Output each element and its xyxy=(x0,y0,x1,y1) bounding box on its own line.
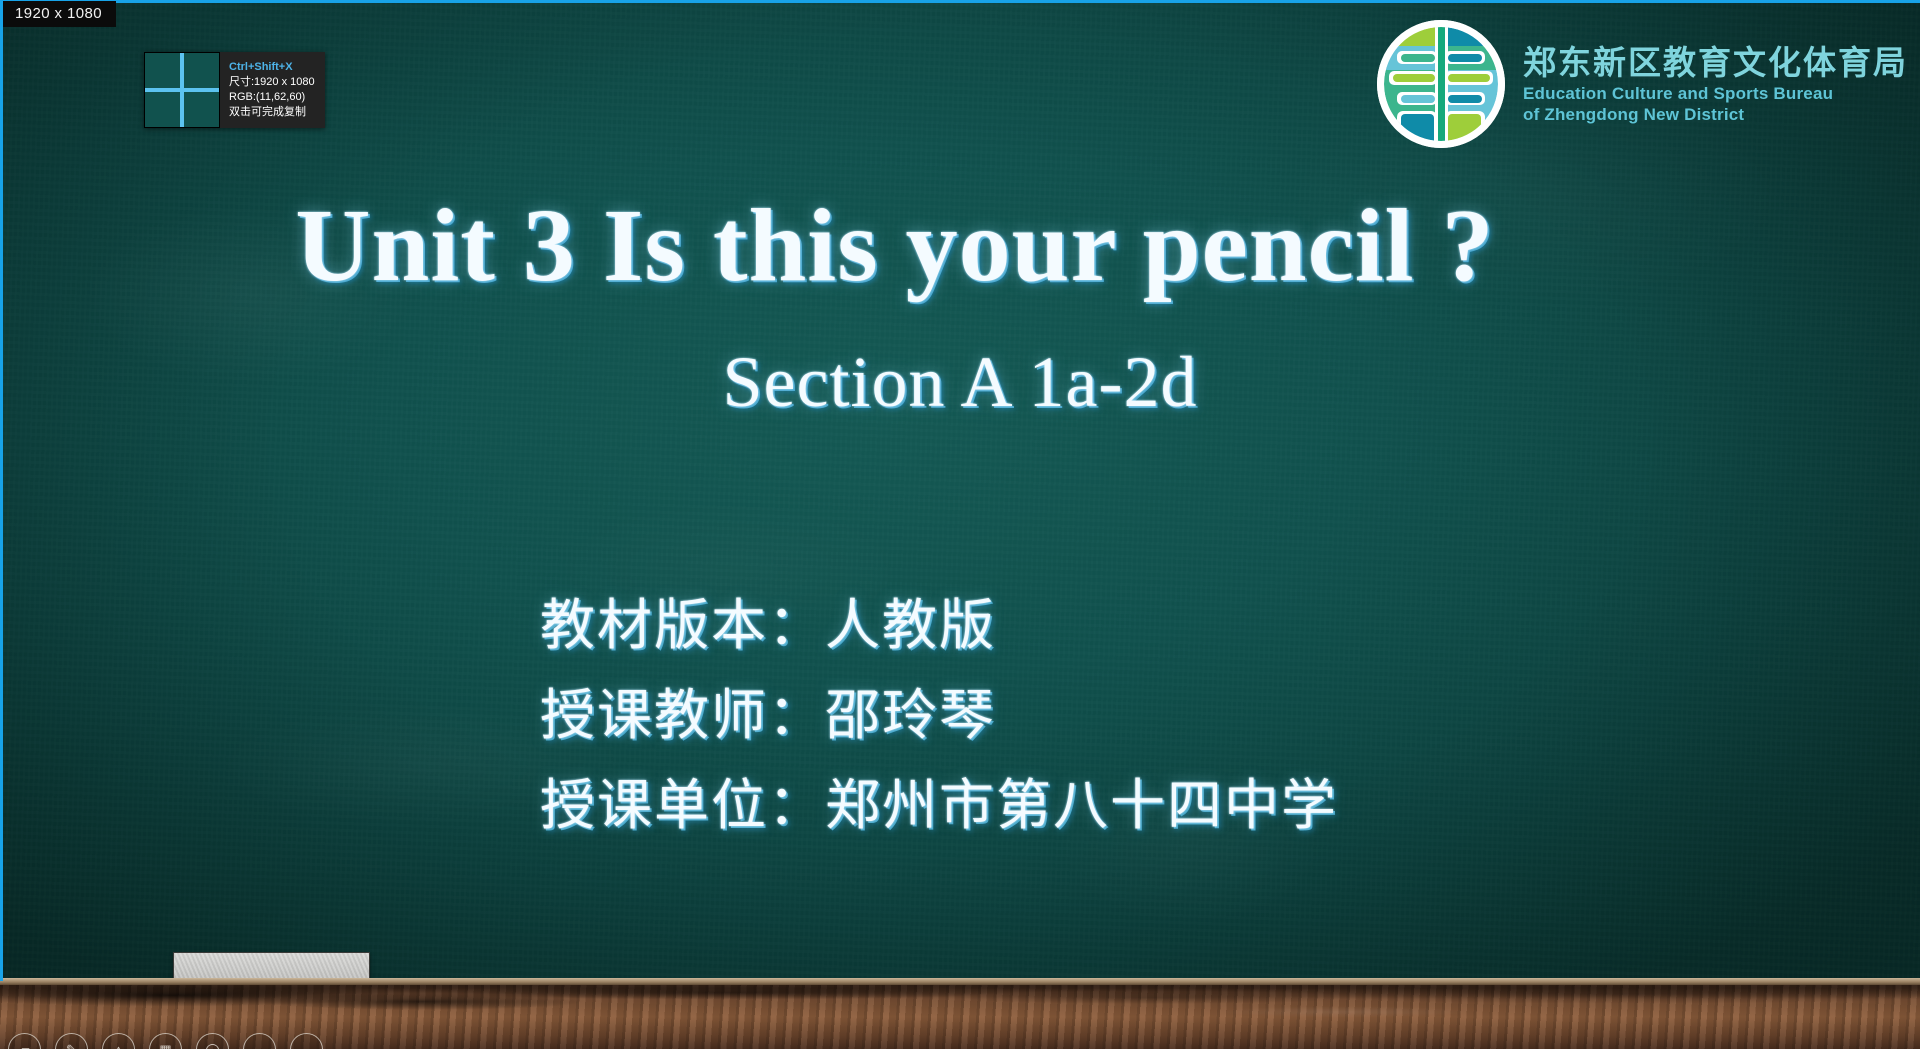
color-picker-info: Ctrl+Shift+X 尺寸:1920 x 1080 RGB:(11,62,6… xyxy=(220,52,325,128)
picker-size-line: 尺寸:1920 x 1080 xyxy=(229,75,317,90)
info-label-textbook: 教材版本： xyxy=(540,593,825,657)
picker-rgb-line: RGB:(11,62,60) xyxy=(229,90,317,105)
toolbar-button-arrow-tool[interactable]: ↑ xyxy=(102,1033,135,1049)
arrow-tool-icon: ↑ xyxy=(115,1043,122,1049)
bureau-name-en-line2: of Zhengdong New District xyxy=(1523,104,1908,125)
capture-size-chip: 1920 x 1080 xyxy=(3,1,116,27)
minus-tool-icon: — xyxy=(253,1043,266,1049)
toolbar-button-blank-tool[interactable] xyxy=(290,1033,323,1049)
cursor-tool-icon: ▱ xyxy=(20,1043,30,1049)
info-value-school: 郑州市第八十四中学 xyxy=(825,773,1338,837)
picker-hint-line: 双击可完成复制 xyxy=(229,105,317,120)
bureau-logo: 郑东新区教育文化体育局 Education Culture and Sports… xyxy=(1375,18,1908,150)
slide-title: Unit 3 Is this your pencil ? xyxy=(0,190,1790,302)
crosshair-horizontal xyxy=(145,88,219,92)
toolbar-button-minus-tool[interactable]: — xyxy=(243,1033,276,1049)
pen-tool-icon: ✎ xyxy=(66,1043,77,1049)
chalk-ledge xyxy=(0,978,1920,985)
toolbar-button-shape-tool[interactable]: ◯ xyxy=(196,1033,229,1049)
grid-tool-icon: ▦ xyxy=(159,1043,171,1049)
screenshot-stage: 郑东新区教育文化体育局 Education Culture and Sports… xyxy=(0,0,1920,1049)
bureau-name-cn: 郑东新区教育文化体育局 xyxy=(1523,43,1908,83)
slide-subtitle: Section A 1a-2d xyxy=(0,340,1920,424)
shape-tool-icon: ◯ xyxy=(205,1043,220,1049)
info-row-textbook: 教材版本：人教版 xyxy=(540,580,1338,670)
info-value-textbook: 人教版 xyxy=(825,593,996,657)
toolbar-button-cursor-tool[interactable]: ▱ xyxy=(8,1033,41,1049)
info-row-teacher: 授课教师：邵玲琴 xyxy=(540,670,1338,760)
info-label-school: 授课单位： xyxy=(540,773,825,837)
picker-hotkey: Ctrl+Shift+X xyxy=(229,60,317,75)
slide-info-list: 教材版本：人教版 授课教师：邵玲琴 授课单位：郑州市第八十四中学 xyxy=(540,580,1338,850)
info-row-school: 授课单位：郑州市第八十四中学 xyxy=(540,760,1338,850)
bottom-toolbar[interactable]: ▱ ✎ ↑ ▦ ◯ — xyxy=(8,1033,323,1049)
bureau-emblem-icon xyxy=(1375,18,1507,150)
color-picker-tooltip[interactable]: Ctrl+Shift+X 尺寸:1920 x 1080 RGB:(11,62,6… xyxy=(144,52,325,128)
magnifier-crosshair-icon xyxy=(144,52,220,128)
bureau-logo-text: 郑东新区教育文化体育局 Education Culture and Sports… xyxy=(1523,43,1908,125)
toolbar-button-grid-tool[interactable]: ▦ xyxy=(149,1033,182,1049)
toolbar-button-pen-tool[interactable]: ✎ xyxy=(55,1033,88,1049)
info-value-teacher: 邵玲琴 xyxy=(825,683,996,747)
bureau-name-en-line1: Education Culture and Sports Bureau xyxy=(1523,83,1908,104)
info-label-teacher: 授课教师： xyxy=(540,683,825,747)
